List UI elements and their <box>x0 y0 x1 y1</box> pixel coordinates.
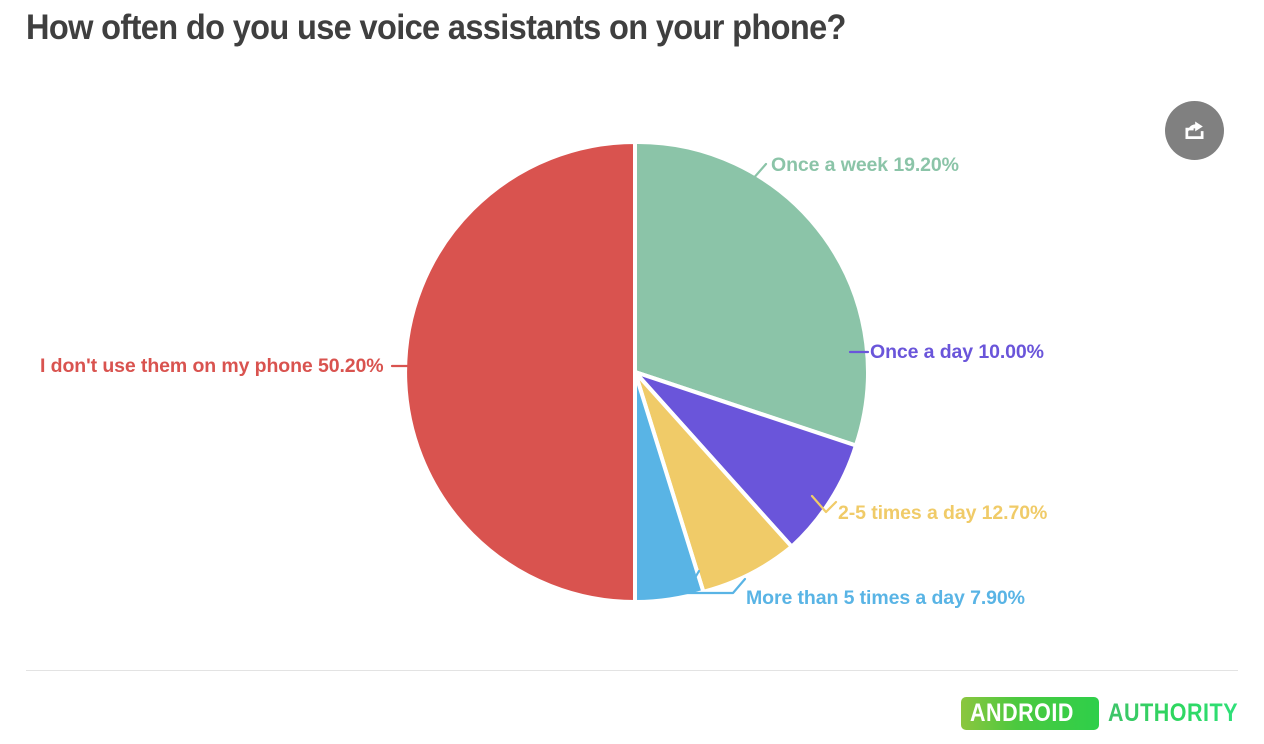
pie-slice-i-dont-use-them <box>405 142 635 602</box>
android-authority-logo: ANDROID AUTHORITY <box>961 697 1259 730</box>
pie-label-once-a-day: Once a day 10.00% <box>870 341 1044 364</box>
brand-mark-label: ANDROID <box>970 701 1074 726</box>
pie-label-2-5-times-a-day: 2-5 times a day 12.70% <box>838 502 1047 525</box>
page-title: How often do you use voice assistants on… <box>26 8 846 48</box>
pie-chart: Once a week 19.20% Once a day 10.00% 2-5… <box>0 60 1264 660</box>
pie-label-more-than-5-times-a-day: More than 5 times a day 7.90% <box>746 587 1025 610</box>
pie-slices <box>405 142 868 602</box>
footer-divider <box>26 670 1238 671</box>
brand-mark-badge: ANDROID <box>961 697 1099 730</box>
pie-label-once-a-week: Once a week 19.20% <box>771 154 959 177</box>
pie-label-i-dont-use-them: I don't use them on my phone 50.20% <box>40 355 384 378</box>
brand-word-label: AUTHORITY <box>1108 701 1238 726</box>
